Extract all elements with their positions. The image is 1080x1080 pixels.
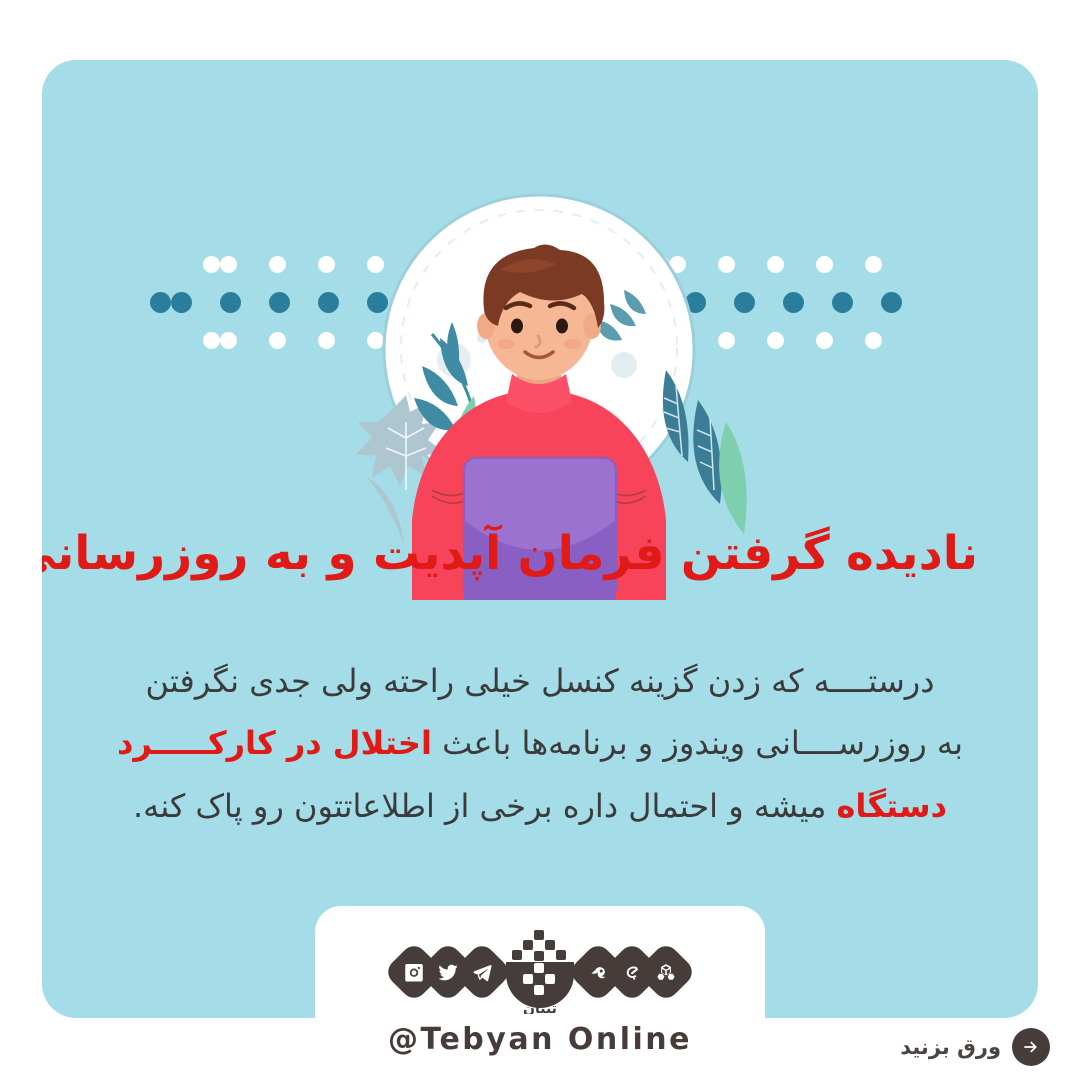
social-chain-left [581, 950, 683, 994]
body-copy: درستــــه که زدن گزینه کنسل خیلی راحته و… [112, 650, 968, 837]
body-line-3: دستگاه میشه و احتمال داره برخی از اطلاعا… [112, 775, 968, 837]
footer-panel: Tebyan.NET تبیان [315, 906, 765, 1018]
body-line-2-highlight: اختلال در کارکـــــرد [117, 724, 432, 762]
tebyan-logo: Tebyan.NET تبیان [503, 930, 577, 1014]
svg-text:تبیان: تبیان [523, 1001, 557, 1014]
screenshot-root: نادیده گرفتن فرمان آپدیت و به روزرسانی د… [0, 0, 1080, 1080]
post-card: نادیده گرفتن فرمان آپدیت و به روزرسانی د… [42, 60, 1038, 1018]
page-title: نادیده گرفتن فرمان آپدیت و به روزرسانی [102, 525, 978, 584]
social-links: Tebyan.NET تبیان [315, 930, 765, 1014]
body-line-2-plain: به روزرســــانی ویندوز و برنامه‌ها باعث [432, 724, 963, 762]
body-line-1: درستــــه که زدن گزینه کنسل خیلی راحته و… [112, 650, 968, 712]
arrow-right-icon[interactable] [1012, 1028, 1050, 1066]
body-line-2: به روزرســــانی ویندوز و برنامه‌ها باعث … [112, 712, 968, 774]
swipe-label: ورق بزنید [900, 1035, 1001, 1059]
instagram-icon[interactable] [383, 941, 445, 1003]
social-chain-right [397, 950, 499, 994]
body-line-3-plain: میشه و احتمال داره برخی از اطلاعاتتون رو… [133, 787, 837, 825]
body-line-3-highlight: دستگاه [837, 787, 947, 825]
swipe-prompt[interactable]: ورق بزنید [900, 1028, 1050, 1066]
